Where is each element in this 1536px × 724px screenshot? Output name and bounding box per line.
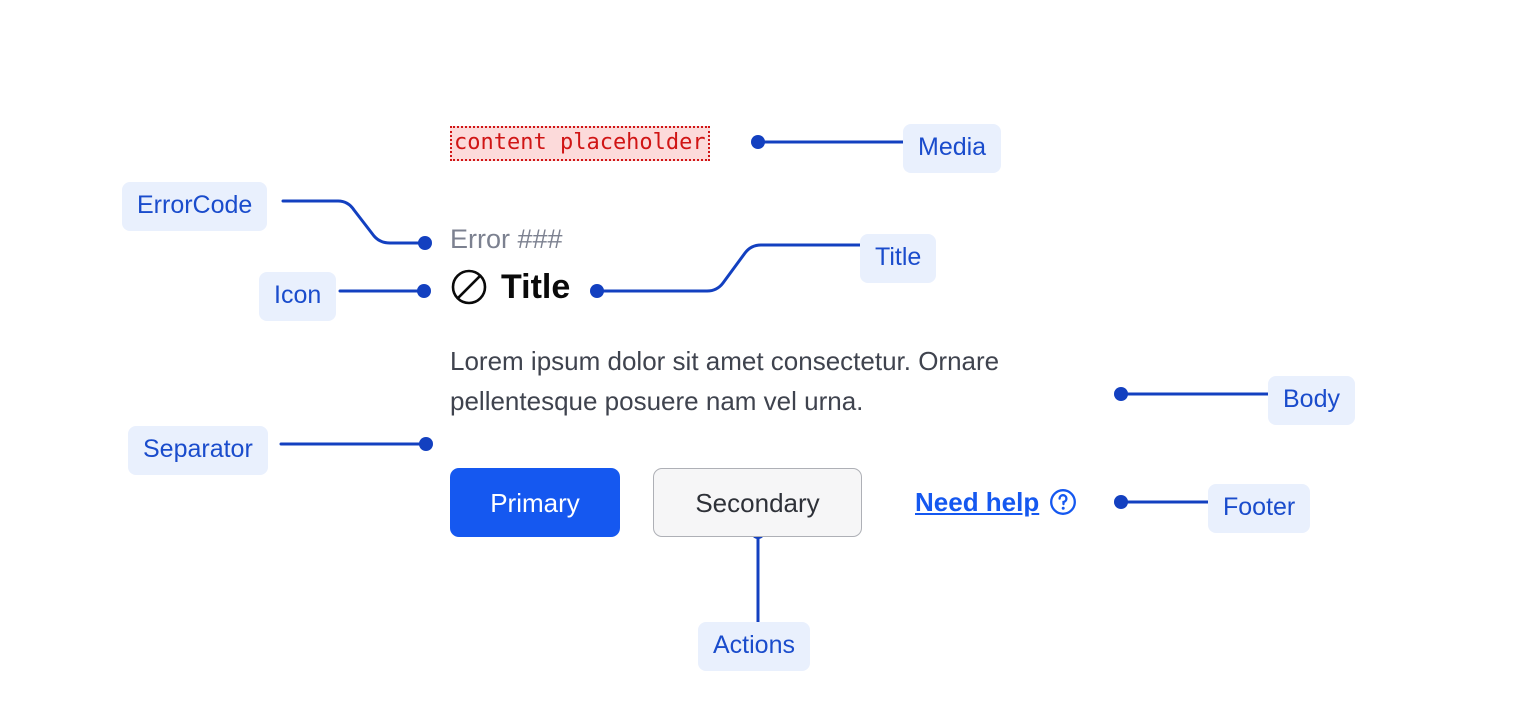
connector-dot-icon [417, 284, 431, 298]
need-help-link[interactable]: Need help [915, 488, 1077, 516]
annotation-pill-title[interactable]: Title [860, 234, 936, 283]
page-title: Title [501, 270, 570, 304]
annotation-pill-separator[interactable]: Separator [128, 426, 268, 475]
title-row: Title [450, 268, 570, 306]
annotation-pill-media[interactable]: Media [903, 124, 1001, 173]
annotated-error-state-canvas: content placeholder Error ### Title Lore… [0, 0, 1536, 724]
connector-dot-footer [1114, 495, 1128, 509]
connector-dot-title [590, 284, 604, 298]
connector-dot-separator [419, 437, 433, 451]
annotation-pill-body[interactable]: Body [1268, 376, 1355, 425]
body-text: Lorem ipsum dolor sit amet consectetur. … [450, 341, 1100, 421]
annotation-pill-actions[interactable]: Actions [698, 622, 810, 671]
need-help-label: Need help [915, 489, 1039, 515]
connector-errorcode [283, 201, 425, 243]
annotation-pill-errorcode[interactable]: ErrorCode [122, 182, 267, 231]
connector-dot-errorcode [418, 236, 432, 250]
media-content-placeholder: content placeholder [450, 126, 710, 161]
prohibition-icon [450, 268, 488, 306]
annotation-pill-icon[interactable]: Icon [259, 272, 336, 321]
connector-dot-body [1114, 387, 1128, 401]
secondary-button[interactable]: Secondary [653, 468, 862, 537]
question-circle-icon[interactable] [1049, 488, 1077, 516]
connector-title [597, 245, 860, 291]
connector-dot-media [751, 135, 765, 149]
primary-button[interactable]: Primary [450, 468, 620, 537]
annotation-pill-footer[interactable]: Footer [1208, 484, 1310, 533]
error-code-text: Error ### [450, 226, 563, 253]
